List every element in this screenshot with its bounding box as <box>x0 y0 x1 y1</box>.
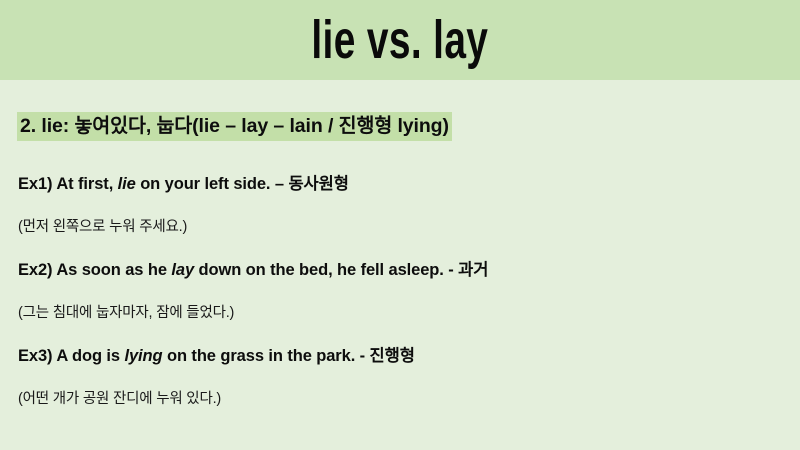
example-1-text-after: on your left side. – 동사원형 <box>136 175 349 193</box>
example-1-text-before: At first, <box>52 175 117 193</box>
slide-body: 2. lie: 놓여있다, 눕다(lie – lay – lain / 진행형 … <box>0 80 800 450</box>
example-2-label: Ex2) <box>18 261 52 279</box>
example-3-text-after: on the grass in the park. - 진행형 <box>163 347 415 365</box>
example-line-3: Ex3) A dog is lying on the grass in the … <box>18 346 415 366</box>
example-line-1: Ex1) At first, lie on your left side. – … <box>18 174 349 194</box>
example-2-text-after: down on the bed, he fell asleep. - 과거 <box>194 261 488 279</box>
slide-root: lie vs. lay 2. lie: 놓여있다, 눕다(lie – lay –… <box>0 0 800 450</box>
title-banner: lie vs. lay <box>0 0 800 80</box>
example-2-emphasis-word: lay <box>171 261 194 279</box>
example-1-emphasis-word: lie <box>118 175 136 193</box>
example-3-text-before: A dog is <box>52 347 124 365</box>
example-2-translation: (그는 침대에 눕자마자, 잠에 들었다.) <box>18 304 234 322</box>
example-3-translation: (어떤 개가 공원 잔디에 누워 있다.) <box>18 390 221 408</box>
example-2-text-before: As soon as he <box>52 261 171 279</box>
slide-title: lie vs. lay <box>312 13 489 67</box>
section-heading: 2. lie: 놓여있다, 눕다(lie – lay – lain / 진행형 … <box>17 112 452 141</box>
example-1-translation: (먼저 왼쪽으로 누워 주세요.) <box>18 218 187 236</box>
example-line-2: Ex2) As soon as he lay down on the bed, … <box>18 260 488 280</box>
example-3-label: Ex3) <box>18 347 52 365</box>
example-1-label: Ex1) <box>18 175 52 193</box>
example-3-emphasis-word: lying <box>124 347 162 365</box>
section-heading-text: 2. lie: 놓여있다, 눕다(lie – lay – lain / 진행형 … <box>17 112 452 141</box>
